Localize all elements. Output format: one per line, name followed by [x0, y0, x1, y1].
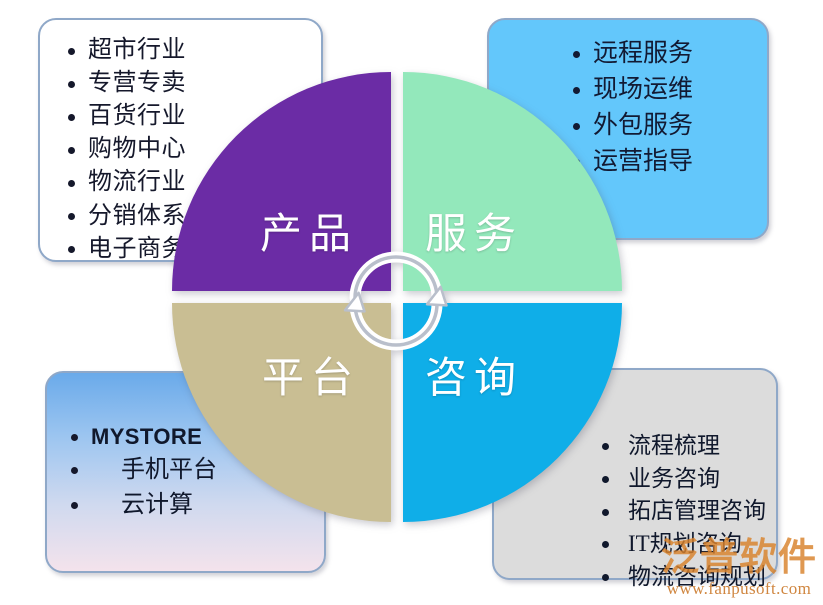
- quadrant-wheel: 产品 服务 平台 咨询: [172, 72, 622, 522]
- diagram-canvas: 超市行业 专营专卖 百货行业 购物中心 物流行业 分销体系 电子商务 远程服务 …: [0, 0, 823, 605]
- list-item: 业务咨询: [602, 463, 776, 496]
- list-item: 远程服务: [567, 36, 767, 72]
- list-item: IT规划咨询: [602, 528, 776, 561]
- list-item: 拓店管理咨询: [602, 495, 776, 528]
- list-item: 超市行业: [62, 34, 321, 67]
- list-item: 物流咨询规划: [602, 561, 776, 594]
- circular-arrows-icon: [335, 240, 457, 362]
- list-item: 流程梳理: [602, 430, 776, 463]
